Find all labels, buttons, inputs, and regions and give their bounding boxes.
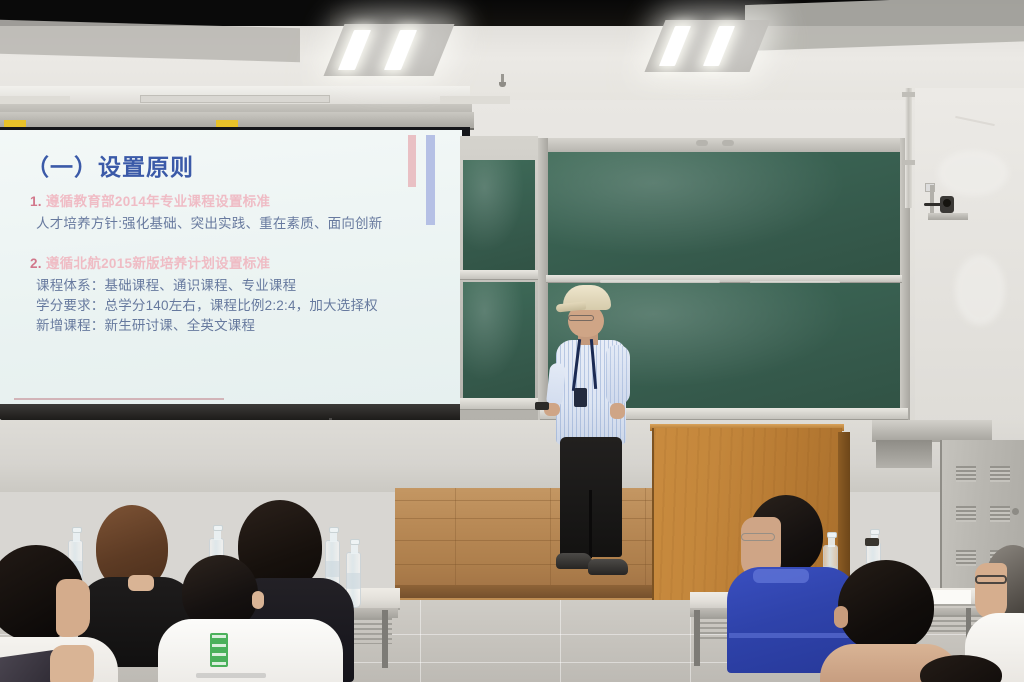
slide-item-2-line-2: 学分要求：总学分140左右，课程比例2:2:4，加大选择权: [36, 294, 378, 314]
id-badge: [574, 388, 587, 407]
blackboard-panel-main-upper: [548, 152, 900, 277]
face-profile: [975, 563, 1007, 619]
slide-item-1-heading: 1. 遵循教育部2014年专业课程设置标准: [30, 190, 270, 210]
slide-footer-line: [14, 398, 224, 400]
ear: [252, 591, 264, 609]
polo-collar: [753, 569, 809, 583]
desk-leg: [694, 610, 700, 666]
slide-item-2-heading: 2. 遵循北航2015新版培养计划设置标准: [30, 252, 270, 272]
slide-item-1-number: 1.: [30, 194, 42, 209]
cabinet-knob[interactable]: [1012, 508, 1019, 515]
sprinkler-icon: [499, 74, 506, 88]
slide-item-1-text: 遵循教育部2014年专业课程设置标准: [46, 194, 270, 209]
desk-leg: [382, 610, 388, 668]
presentation-clicker[interactable]: [535, 402, 549, 410]
bottle-cap-dark: [865, 538, 879, 546]
presenter-right-hand: [610, 403, 625, 419]
warning-label: [4, 120, 26, 127]
ceiling-vent-slot: [140, 95, 330, 103]
camera-lens-icon: [943, 199, 951, 207]
ear: [834, 606, 848, 628]
slide-accent-bar-pink: [408, 135, 416, 187]
polo-stripe: [729, 633, 857, 638]
presenter: [548, 285, 634, 600]
trouser-seam: [589, 490, 592, 558]
presenter-sleeve: [606, 345, 630, 405]
eyeglasses-icon: [568, 315, 594, 321]
blackboard-assembly: [460, 130, 915, 420]
slide-item-1-line-1: 人才培养方针:强化基础、突出实践、重在素质、面向创新: [36, 212, 382, 232]
tshirt-logo-text: [212, 635, 226, 665]
shelf-bracket: [930, 185, 934, 213]
tshirt-subtitle: [196, 673, 266, 678]
wall-pipe: [905, 88, 912, 208]
eyeglasses-icon: [975, 575, 1007, 584]
slide-item-2-line-3: 新增课程：新生研讨课、全英文课程: [36, 314, 255, 334]
slide-title: （一）设置原则: [26, 148, 194, 182]
cabinet-top-shelf: [872, 420, 992, 442]
screen-weight-bar: [0, 404, 470, 420]
slide-item-2-text: 遵循北航2015新版培养计划设置标准: [46, 256, 270, 271]
blackboard-panel-left-upper: [463, 160, 535, 270]
presenter-shoe-right: [588, 559, 628, 575]
slide-accent-bar-blue: [426, 135, 435, 225]
face-profile: [56, 579, 90, 637]
blackboard-panel-left-lower: [463, 282, 535, 400]
warning-label: [216, 120, 238, 127]
eyeglasses-icon: [741, 533, 775, 541]
wall-shelf: [928, 213, 968, 220]
presenter-shoe-left: [556, 553, 592, 569]
neck: [128, 575, 154, 591]
cabinet-bracket: [876, 440, 932, 468]
stage-front-wall: [0, 420, 1024, 492]
head: [838, 560, 934, 652]
lecture-hall-photo: （一）设置原则 1. 遵循教育部2014年专业课程设置标准 人才培养方针:强化基…: [0, 0, 1024, 682]
slide-item-2-number: 2.: [30, 256, 42, 271]
hand: [50, 645, 94, 682]
slide-item-2-line-1: 课程体系：基础课程、通识课程、专业课程: [36, 274, 296, 294]
projection-screen[interactable]: （一）设置原则 1. 遵循教育部2014年专业课程设置标准 人才培养方针:强化基…: [0, 130, 462, 406]
